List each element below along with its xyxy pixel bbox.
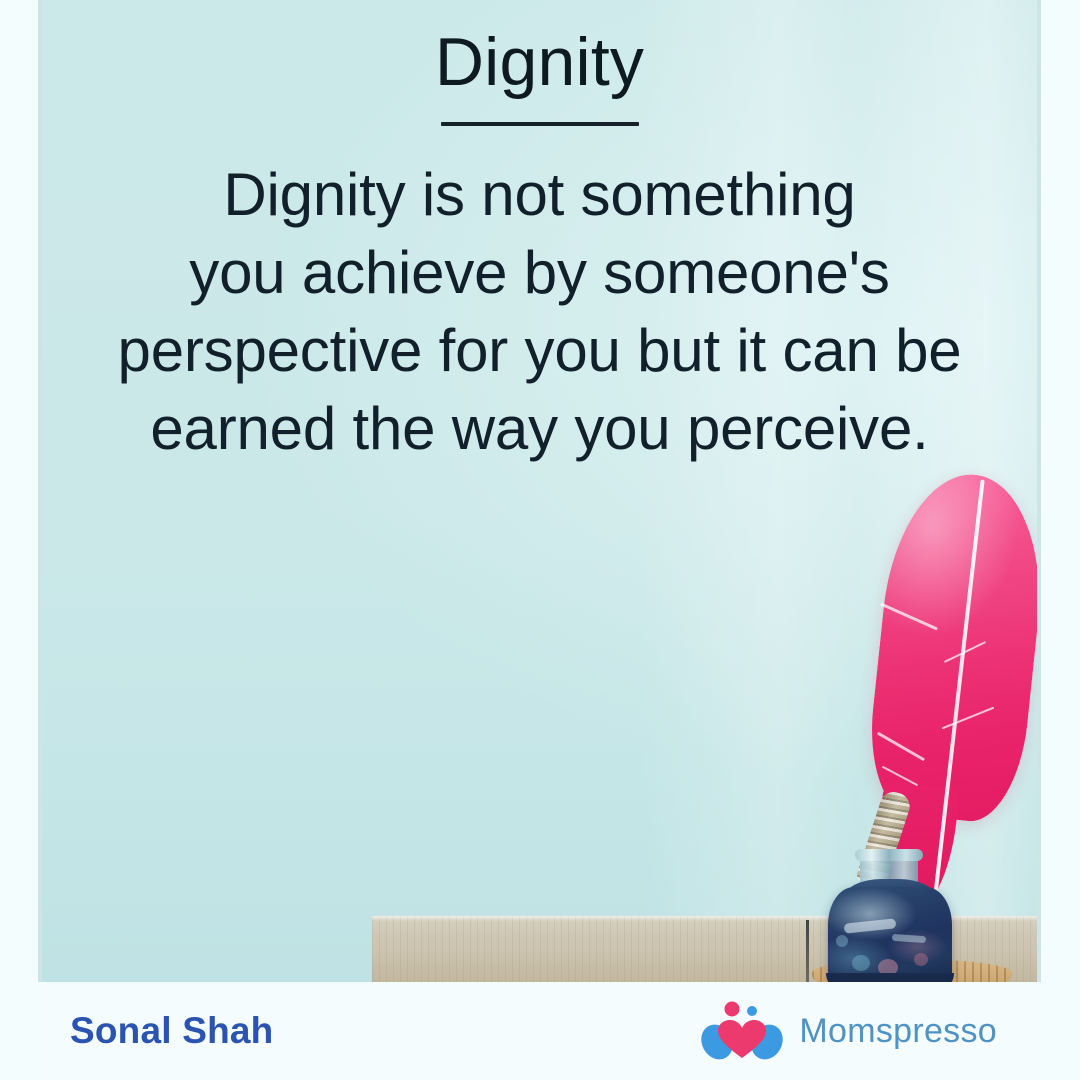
panel-left-edge (38, 0, 42, 982)
quote-title: Dignity (42, 26, 1037, 98)
inkwell-base (826, 973, 954, 982)
table-seam-line (806, 920, 809, 982)
quote-text-block: Dignity Dignity is not something you ach… (42, 0, 1037, 468)
quote-card: Dignity Dignity is not something you ach… (0, 0, 1080, 1080)
brand-group[interactable]: Momspresso (699, 1000, 997, 1062)
momspresso-logo-icon (699, 1000, 785, 1062)
quote-line: earned the way you perceive. (42, 390, 1037, 468)
title-divider-rule (441, 122, 639, 126)
inkwell-body (828, 887, 952, 982)
brand-name: Momspresso (799, 1012, 997, 1051)
quote-line: Dignity is not something (42, 156, 1037, 234)
quote-body: Dignity is not something you achieve by … (42, 156, 1037, 468)
footer-bar: Sonal Shah Momspresso (42, 982, 1037, 1080)
quill-and-inkwell-illustration (822, 455, 1037, 982)
author-name: Sonal Shah (70, 1010, 273, 1052)
panel-right-edge (1037, 0, 1041, 982)
quote-line: you achieve by someone's (42, 234, 1037, 312)
quote-image-panel: Dignity Dignity is not something you ach… (42, 0, 1037, 982)
quote-line: perspective for you but it can be (42, 312, 1037, 390)
inkwell-lip (855, 849, 923, 861)
